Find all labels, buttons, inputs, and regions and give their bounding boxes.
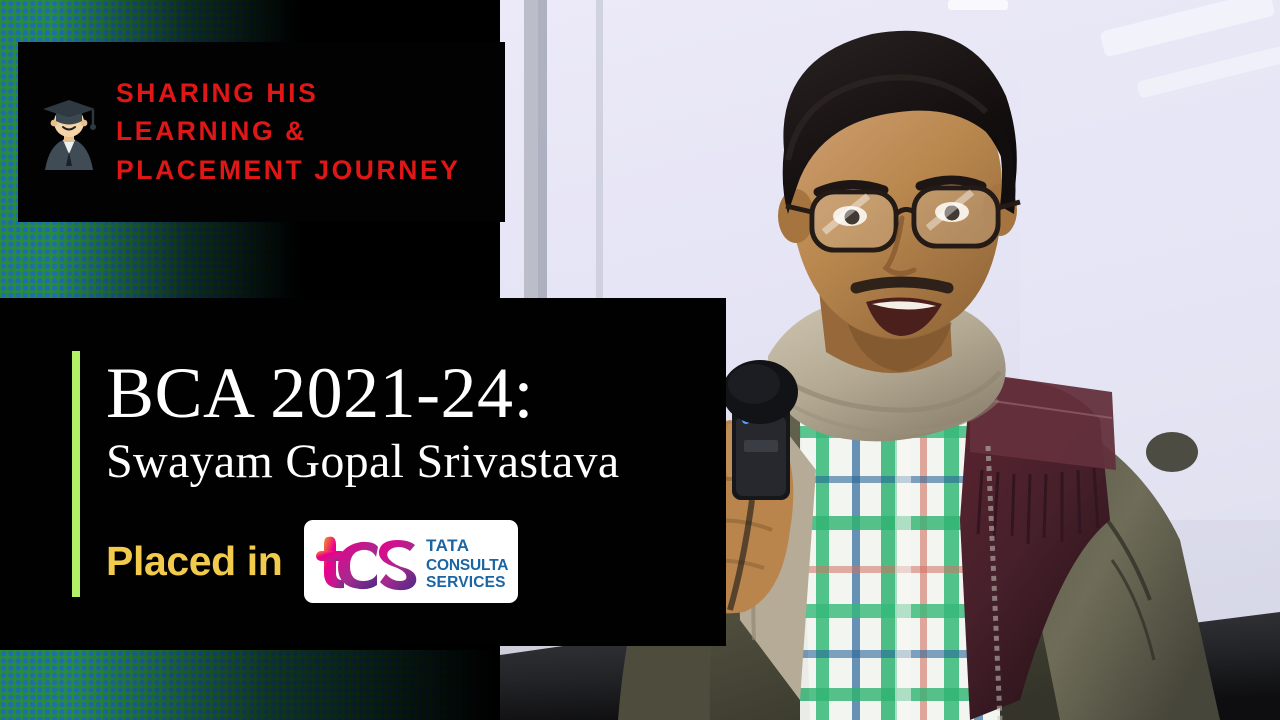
title-block: BCA 2021-24: Swayam Gopal Srivastava: [106, 358, 706, 488]
halftone-dots-bottom-left: [0, 650, 520, 720]
headline-line-2: LEARNING &: [116, 115, 461, 148]
placed-in-row: Placed in: [106, 520, 518, 603]
headline-line-3: PLACEMENT JOURNEY: [116, 154, 461, 187]
headline-line-1: SHARING HIS: [116, 77, 461, 110]
thumbnail-canvas: SHARING HIS LEARNING & PLACEMENT JOURNEY…: [0, 0, 1280, 720]
page-title: BCA 2021-24:: [106, 358, 706, 429]
placed-in-label: Placed in: [106, 541, 282, 582]
vertical-green-accent-bar: [72, 351, 80, 597]
graduate-emoji-icon: [36, 91, 102, 173]
svg-text:TATA: TATA: [426, 536, 470, 555]
top-banner-headline: SHARING HIS LEARNING & PLACEMENT JOURNEY: [116, 77, 461, 186]
svg-text:SERVICES: SERVICES: [426, 574, 506, 591]
svg-text:CONSULTANCY: CONSULTANCY: [426, 557, 508, 574]
page-subtitle: Swayam Gopal Srivastava: [106, 435, 706, 489]
top-banner: SHARING HIS LEARNING & PLACEMENT JOURNEY: [18, 42, 505, 222]
tcs-logo: TATA CONSULTANCY SERVICES: [304, 520, 518, 603]
